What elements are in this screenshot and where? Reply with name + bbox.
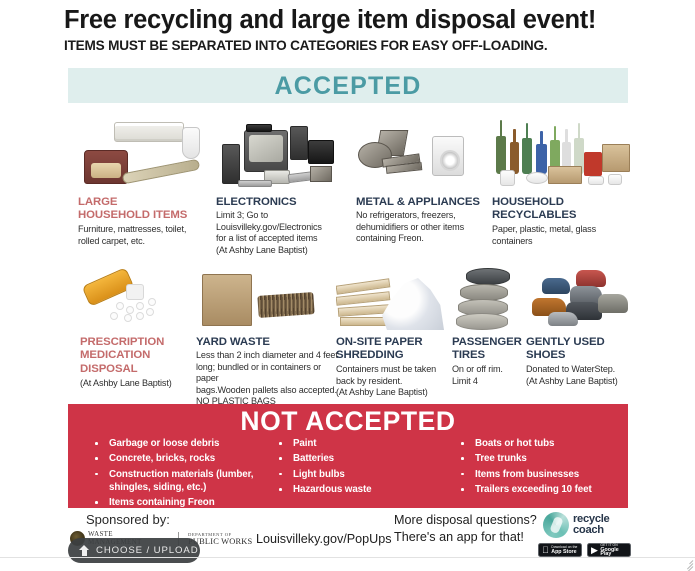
gently-used-shoes-body: Donated to WaterStep. (At Ashby Lane Bap… — [526, 364, 638, 387]
prescription-medication-body: (At Ashby Lane Baptist) — [80, 378, 200, 390]
not-accepted-item: Boats or hot tubs — [458, 437, 638, 450]
not-accepted-column-1: Garbage or loose debris Concrete, bricks… — [92, 437, 292, 512]
not-accepted-item: Batteries — [276, 452, 456, 465]
page-title: Free recycling and large item disposal e… — [64, 6, 639, 35]
household-recyclables-heading: HOUSEHOLDRECYCLABLES — [492, 196, 612, 223]
passenger-tires-heading: PASSENGERTIRES — [452, 336, 524, 363]
recycle-coach-logo-text: recyclecoach — [573, 514, 609, 537]
not-accepted-item: Trailers exceeding 10 feet — [458, 483, 638, 496]
app-promo-text: More disposal questions?There's an app f… — [394, 512, 537, 545]
household-recyclables-image — [492, 120, 634, 196]
paper-shredding-image — [336, 272, 448, 334]
google-play-badge[interactable]: ▶ GET IT ON Google Play — [587, 543, 631, 557]
apple-icon:  — [542, 546, 549, 555]
app-store-badges:  Download on the App Store ▶ GET IT ON … — [538, 543, 631, 557]
not-accepted-column-3: Boats or hot tubs Tree trunks Items from… — [458, 437, 638, 499]
metal-appliances-body: No refrigerators, freezers, dehumidifier… — [356, 210, 484, 245]
paper-shredding-body: Containers must be taken back by residen… — [336, 364, 454, 399]
gently-used-shoes-heading: GENTLY USEDSHOES — [526, 336, 636, 363]
choose-upload-button[interactable]: CHOOSE / UPLOAD — [68, 538, 200, 563]
yard-waste-body: Less than 2 inch diameter and 4 feet lon… — [196, 350, 342, 408]
not-accepted-item: Light bulbs — [276, 468, 456, 481]
not-accepted-item: Paint — [276, 437, 456, 450]
not-accepted-item: Garbage or loose debris — [92, 437, 292, 450]
electronics-body: Limit 3; Go to Louisvilleky.gov/Electron… — [216, 210, 350, 256]
not-accepted-item: Construction materials (lumber, shingles… — [92, 468, 292, 494]
large-household-items-image — [78, 118, 206, 196]
large-household-items-body: Furniture, mattresses, toilet, rolled ca… — [78, 224, 210, 247]
large-household-items-heading: LARGEHOUSEHOLD ITEMS — [78, 196, 208, 223]
upload-arrow-icon — [79, 545, 90, 557]
not-accepted-columns: Garbage or loose debris Concrete, bricks… — [68, 437, 628, 507]
recycle-coach-logo: recyclecoach — [543, 511, 637, 539]
household-recyclables-body: Paper, plastic, metal, glass containers — [492, 224, 616, 247]
site-url: Louisvilleky.gov/PopUps — [256, 532, 392, 546]
not-accepted-item: Items containing Freon — [92, 496, 292, 509]
choose-upload-label: CHOOSE / UPLOAD — [96, 545, 199, 556]
bottom-divider — [0, 557, 695, 558]
not-accepted-banner-label: NOT ACCEPTED — [68, 406, 628, 437]
recycle-symbol-icon — [543, 512, 569, 538]
resize-handle[interactable] — [681, 557, 693, 569]
accepted-banner: ACCEPTED — [68, 68, 628, 103]
passenger-tires-body: On or off rim. Limit 4 — [452, 364, 522, 387]
not-accepted-section: NOT ACCEPTED Garbage or loose debris Con… — [68, 404, 628, 508]
not-accepted-item: Hazardous waste — [276, 483, 456, 496]
google-play-badge-label: Google Play — [600, 548, 627, 557]
prescription-medication-image — [80, 268, 190, 334]
not-accepted-item: Concrete, bricks, rocks — [92, 452, 292, 465]
google-play-icon: ▶ — [591, 546, 598, 555]
sponsored-by-label: Sponsored by: — [86, 512, 170, 527]
app-store-badge[interactable]:  Download on the App Store — [538, 543, 582, 557]
screenshot-root: Free recycling and large item disposal e… — [0, 0, 695, 571]
app-store-badge-label: App Store — [551, 550, 577, 555]
not-accepted-item: Tree trunks — [458, 452, 638, 465]
electronics-image — [216, 118, 338, 196]
passenger-tires-image — [452, 266, 518, 334]
accepted-banner-label: ACCEPTED — [68, 72, 628, 101]
metal-appliances-image — [356, 124, 476, 196]
flyer-image: Free recycling and large item disposal e… — [0, 0, 695, 556]
gently-used-shoes-image — [526, 268, 636, 334]
metal-appliances-heading: METAL & APPLIANCES — [356, 196, 496, 209]
electronics-heading: ELECTRONICS — [216, 196, 346, 209]
prescription-medication-heading: PRESCRIPTIONMEDICATIONDISPOSAL — [80, 336, 198, 376]
not-accepted-item: Items from businesses — [458, 468, 638, 481]
page-subtitle: ITEMS MUST BE SEPARATED INTO CATEGORIES … — [64, 38, 642, 53]
yard-waste-heading: YARD WASTE — [196, 336, 326, 349]
not-accepted-column-2: Paint Batteries Light bulbs Hazardous wa… — [276, 437, 456, 499]
paper-shredding-heading: ON-SITE PAPERSHREDDING — [336, 336, 456, 363]
yard-waste-image — [196, 268, 320, 334]
